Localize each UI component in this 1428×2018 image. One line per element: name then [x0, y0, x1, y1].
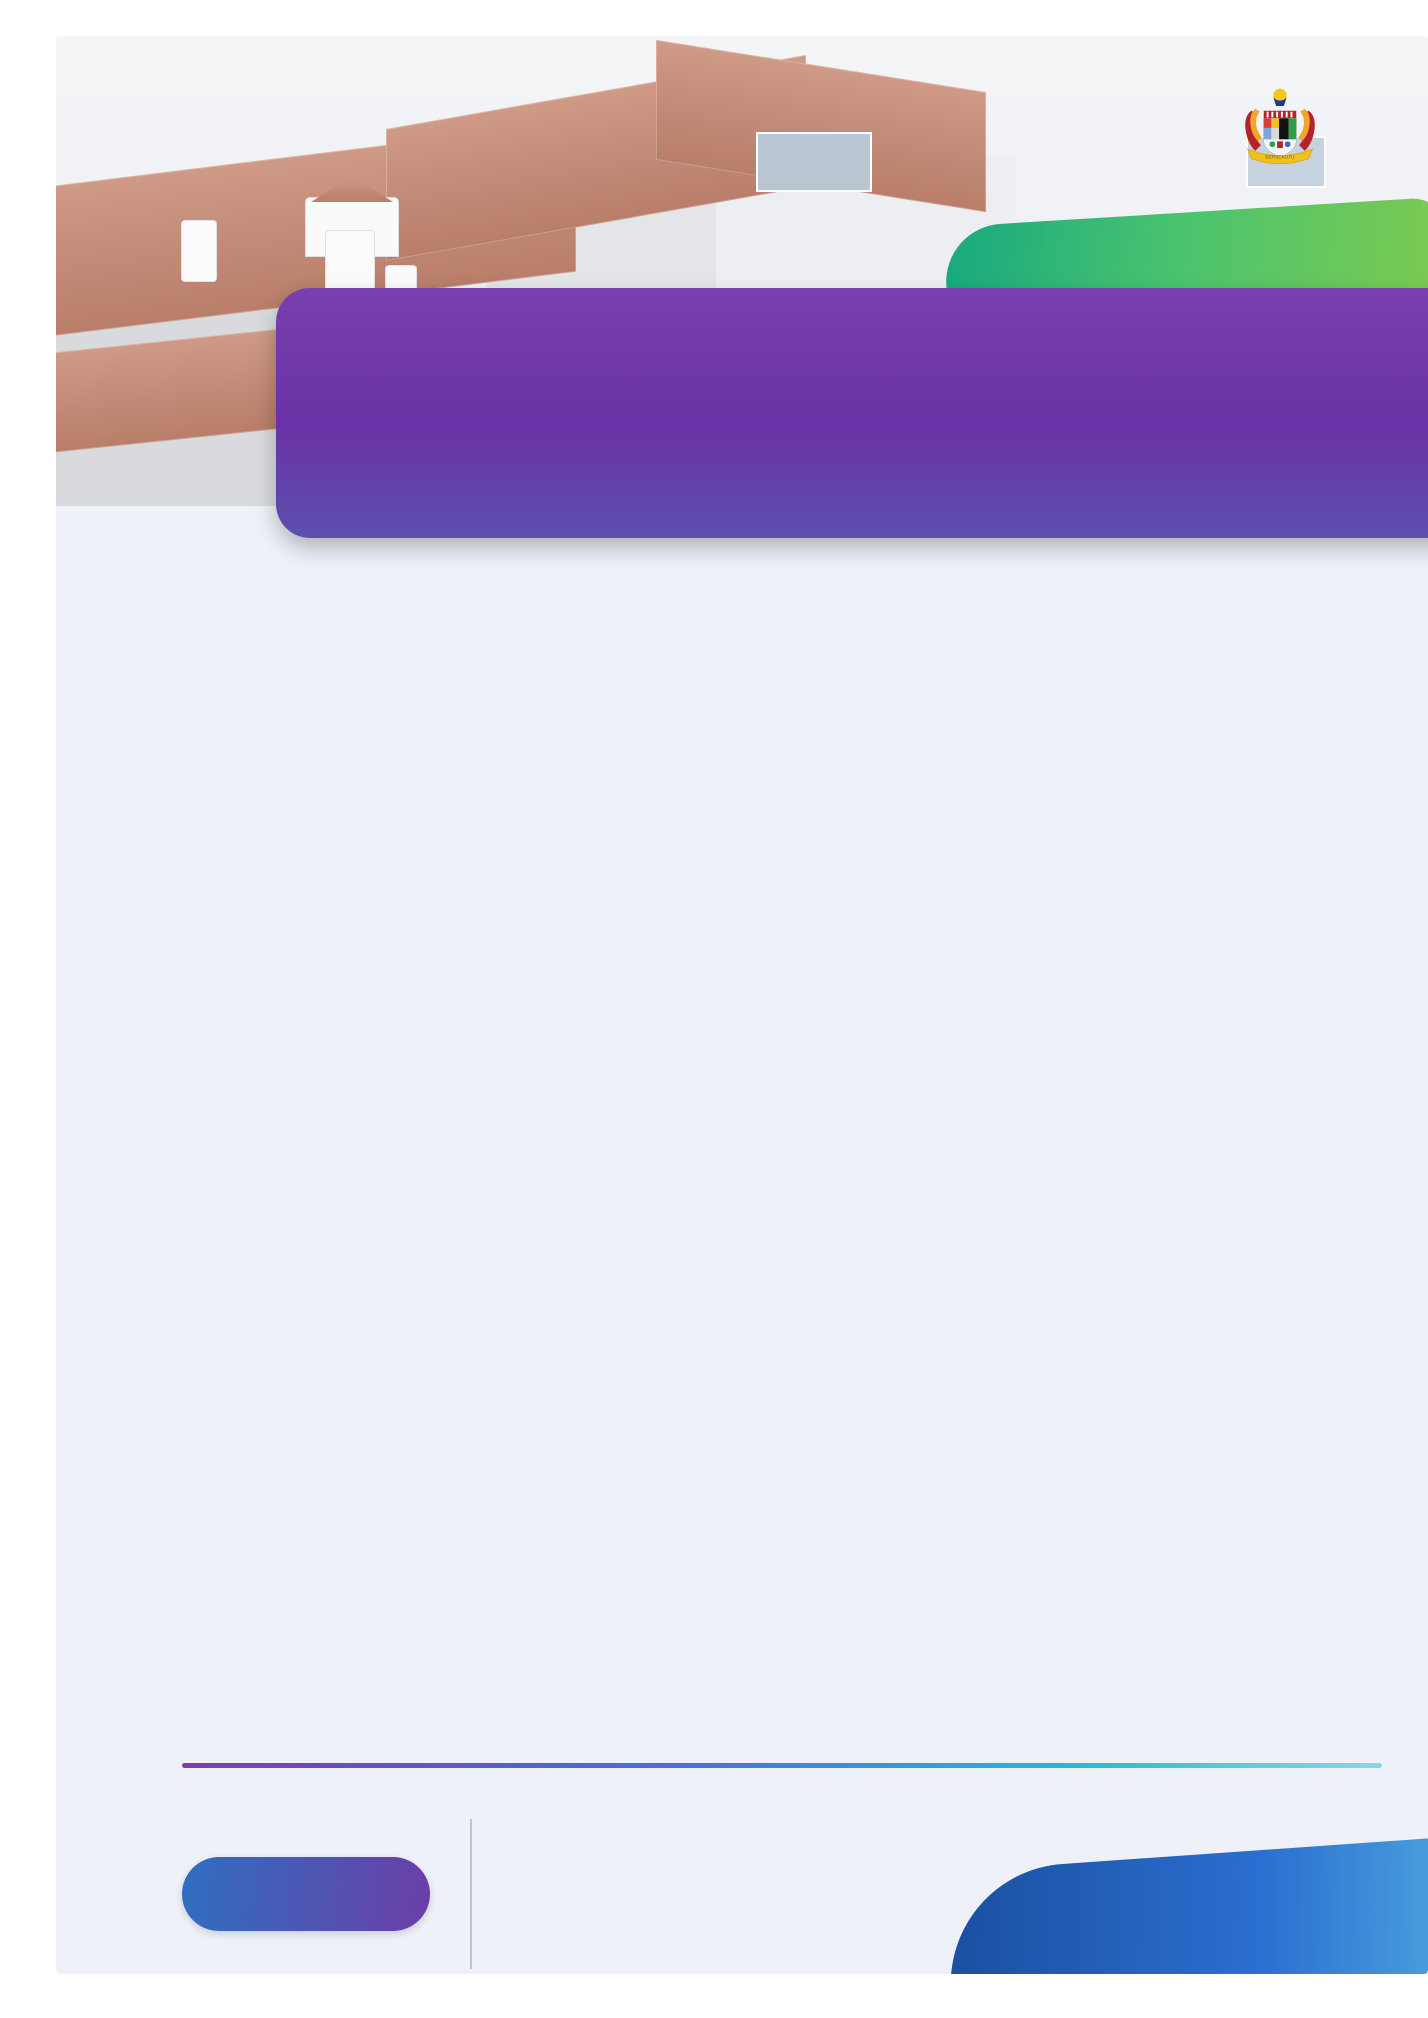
building-pillar	[182, 221, 216, 281]
partners-section	[182, 1791, 1392, 1974]
partners-divider	[470, 1819, 472, 1969]
svg-text:BERSEKUTU: BERSEKUTU	[1265, 155, 1295, 161]
title-plaque	[276, 288, 1428, 538]
building-window	[756, 132, 872, 192]
poster-card: BERSEKUTU	[56, 36, 1428, 1974]
ministry-crest-block: BERSEKUTU	[1180, 84, 1380, 170]
jata-negara-crest-icon: BERSEKUTU	[1232, 84, 1328, 170]
partner-label-chip	[182, 1857, 430, 1931]
poster-root: BERSEKUTU	[0, 0, 1428, 2018]
footer-divider	[182, 1763, 1382, 1768]
